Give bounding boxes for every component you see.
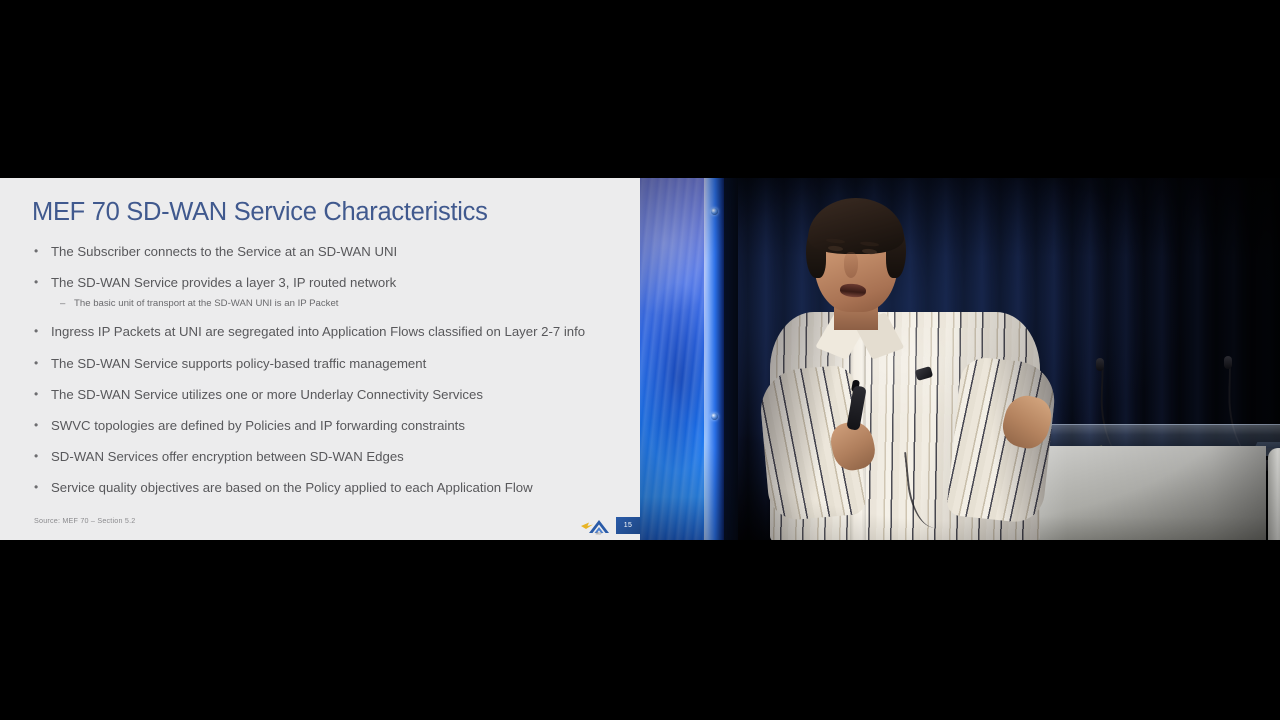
microphone-capsule-right [1224, 356, 1232, 369]
screen-root: MEF 70 SD-WAN Service Characteristics •T… [0, 0, 1280, 720]
svg-text:MEF: MEF [596, 532, 603, 535]
slide-bullet-item: •Ingress IP Packets at UNI are segregate… [30, 324, 630, 339]
podium-column-right [1268, 448, 1280, 540]
slide-bullet-item: •Service quality objectives are based on… [30, 480, 630, 495]
presenter-hair [808, 198, 904, 254]
slide-bullet-text: SD-WAN Services offer encryption between… [51, 449, 630, 464]
slide-bullet-item: •The SD-WAN Service supports policy-base… [30, 356, 630, 371]
slide-bullet-text: The SD-WAN Service supports policy-based… [51, 356, 630, 371]
banner-fixture-top-icon [711, 208, 718, 215]
slide-bullet-text: The basic unit of transport at the SD-WA… [74, 298, 630, 309]
presentation-slide-panel: MEF 70 SD-WAN Service Characteristics •T… [0, 178, 640, 540]
slide-bullet-text: Ingress IP Packets at UNI are segregated… [51, 324, 630, 339]
slide-page-number: 15 [616, 517, 640, 534]
banner-edge-strip [704, 178, 724, 540]
slide-bullet-item: •The SD-WAN Service utilizes one or more… [30, 387, 630, 402]
slide-footer-brand: MEF 15 [580, 513, 640, 537]
slide-bullet-item: –The basic unit of transport at the SD-W… [30, 298, 630, 309]
slide-source-note: Source: MEF 70 – Section 5.2 [34, 516, 135, 525]
slide-bullet-text: The SD-WAN Service utilizes one or more … [51, 387, 630, 402]
bullet-marker-icon: • [34, 324, 51, 339]
slide-bullet-list: •The Subscriber connects to the Service … [30, 244, 630, 512]
presenter-figure [758, 200, 1058, 540]
microphone-capsule-left [1096, 358, 1104, 371]
slide-bullet-item: •The Subscriber connects to the Service … [30, 244, 630, 259]
slide-bullet-text: The SD-WAN Service provides a layer 3, I… [51, 275, 630, 290]
presenter-nose [844, 252, 858, 278]
bullet-marker-icon: • [34, 387, 51, 402]
blue-stage-banner [640, 178, 724, 540]
bullet-marker-icon: – [60, 298, 74, 309]
bullet-marker-icon: • [34, 480, 51, 495]
bullet-marker-icon: • [34, 418, 51, 433]
slide-bullet-text: Service quality objectives are based on … [51, 480, 630, 495]
bullet-marker-icon: • [34, 449, 51, 464]
slide-title: MEF 70 SD-WAN Service Characteristics [32, 198, 488, 227]
slide-bullet-item: •The SD-WAN Service provides a layer 3, … [30, 275, 630, 290]
banner-fixture-bottom-icon [711, 413, 718, 420]
banner-edge-shadow [724, 178, 738, 540]
presenter-video-panel [640, 178, 1280, 540]
slide-bullet-text: SWVC topologies are defined by Policies … [51, 418, 630, 433]
slide-bullet-text: The Subscriber connects to the Service a… [51, 244, 630, 259]
slide-bullet-item: •SD-WAN Services offer encryption betwee… [30, 449, 630, 464]
bullet-marker-icon: • [34, 275, 51, 290]
bullet-marker-icon: • [34, 356, 51, 371]
bullet-marker-icon: • [34, 244, 51, 259]
slide-bullet-item: •SWVC topologies are defined by Policies… [30, 418, 630, 433]
mef-logo-icon: MEF [580, 517, 618, 535]
